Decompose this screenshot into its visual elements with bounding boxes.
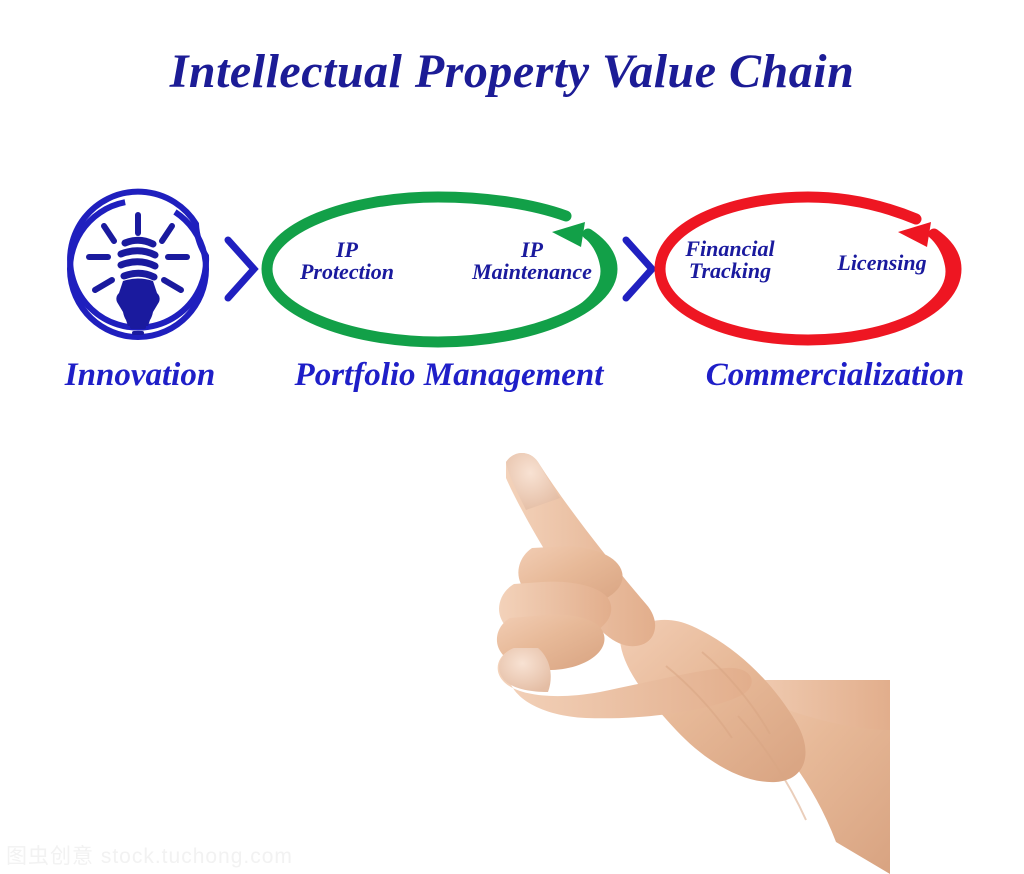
hand-illustration	[470, 430, 890, 874]
node-licensing[interactable]: Licensing	[806, 252, 958, 274]
node-financial-tracking[interactable]: Financial Tracking	[668, 238, 792, 283]
stage-caption-portfolio-management: Portfolio Management	[250, 357, 648, 394]
commercialization-arrowhead-icon	[898, 222, 931, 247]
node-ip-maintenance-line1: IP	[444, 239, 620, 261]
node-ip-protection-line1: IP	[283, 239, 411, 261]
node-licensing-line1: Licensing	[806, 252, 958, 274]
lightbulb-spiral-icon	[121, 240, 155, 277]
node-ip-maintenance-line2: Maintenance	[444, 261, 620, 283]
diagram-canvas: Intellectual Property Value Chain	[0, 0, 1024, 874]
chevron-right-icon-2	[626, 240, 652, 298]
stage-caption-commercialization: Commercialization	[650, 357, 1020, 394]
watermark: 图虫创意 stock.tuchong.com	[6, 840, 293, 870]
node-financial-tracking-line1: Financial	[668, 238, 792, 260]
node-financial-tracking-line2: Tracking	[668, 260, 792, 282]
stage-innovation-graphic[interactable]	[44, 175, 232, 363]
node-ip-protection-line2: Protection	[283, 261, 411, 283]
stage-caption-innovation: Innovation	[20, 357, 260, 394]
node-ip-maintenance[interactable]: IP Maintenance	[444, 239, 620, 284]
value-chain-diagram: IP Protection IP Maintenance Financial T…	[0, 0, 1024, 420]
thumbnail	[499, 648, 551, 692]
hand-pointing-photo	[470, 430, 890, 874]
chevron-right-icon-1	[228, 240, 254, 298]
node-ip-protection[interactable]: IP Protection	[283, 239, 411, 284]
